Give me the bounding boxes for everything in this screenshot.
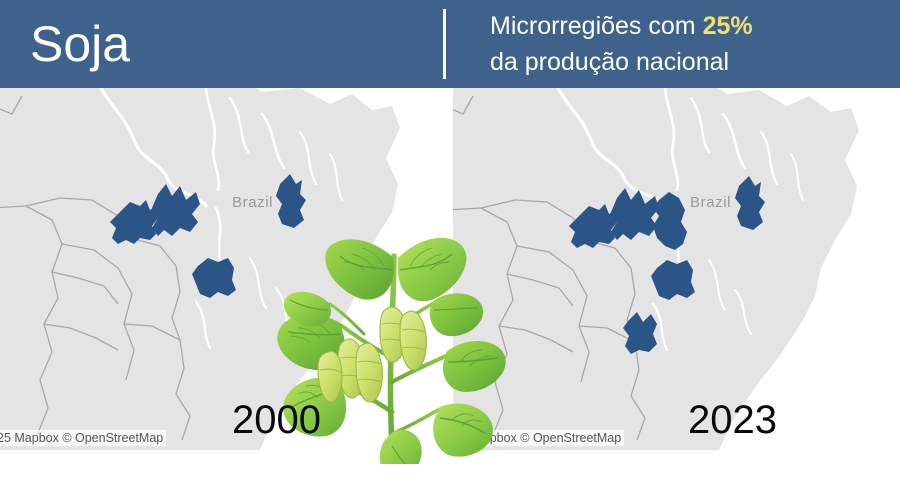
map-2000-graphic: [0, 88, 447, 450]
subtitle-line2: da produção nacional: [490, 48, 729, 76]
header-bar: Soja Microrregiões com 25% da produção n…: [0, 0, 900, 88]
header-divider: [443, 9, 446, 79]
soy-microregions-infographic: Soja Microrregiões com 25% da produção n…: [0, 0, 900, 490]
map-panel-2023[interactable]: Brazil 025 Mapbox © OpenStreetMap: [453, 88, 900, 450]
maps-container: Brazil 25 Mapbox © OpenStreetMap: [0, 88, 900, 450]
map-panel-2000[interactable]: Brazil 25 Mapbox © OpenStreetMap: [0, 88, 447, 450]
page-title: Soja: [30, 8, 130, 80]
subtitle-line1-prefix: Microrregiões com: [490, 12, 703, 40]
map-attribution[interactable]: 025 Mapbox © OpenStreetMap: [453, 430, 624, 446]
map-attribution[interactable]: 25 Mapbox © OpenStreetMap: [0, 430, 166, 446]
header-subtitle: Microrregiões com 25% da produção nacion…: [490, 8, 890, 80]
map-2023-graphic: [453, 88, 900, 450]
subtitle-percentage-highlight: 25%: [703, 12, 753, 40]
year-label-2000: 2000: [232, 398, 321, 443]
year-label-2023: 2023: [688, 398, 777, 443]
